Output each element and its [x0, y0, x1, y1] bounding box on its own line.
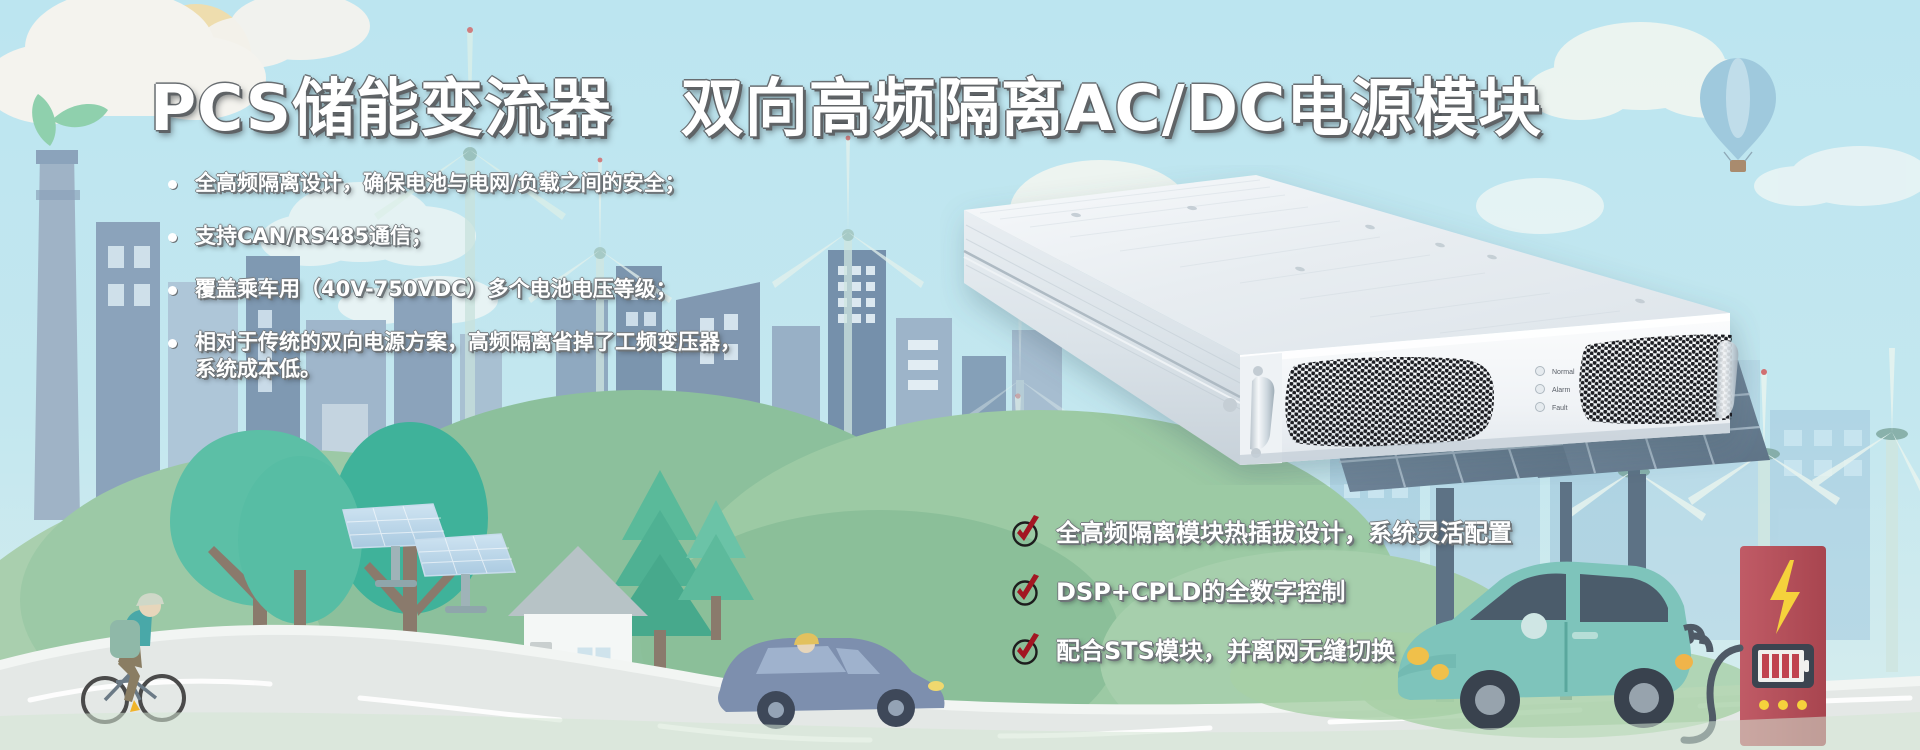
check-circle-icon [1010, 632, 1044, 666]
check-circle-icon [1010, 573, 1044, 607]
list-item: 全高频隔离模块热插拔设计，系统灵活配置 [1010, 513, 1512, 548]
list-item-label: 配合STS模块，并离网无缝切换 [1056, 631, 1395, 666]
bullet-dot-icon [168, 233, 177, 242]
led-label-alarm: Alarm [1552, 387, 1570, 394]
list-item-label: 支持CAN/RS485通信； [195, 223, 432, 250]
list-item-label: DSP+CPLD的全数字控制 [1056, 572, 1345, 607]
list-item-label: 全高频隔离设计，确保电池与电网/负载之间的安全； [195, 170, 686, 197]
bullet-dot-icon [168, 286, 177, 295]
banner-root: Normal Alarm Fault PCS储能变流器 双向高频隔离AC/DC电… [0, 0, 1920, 750]
features-left-list: 全高频隔离设计，确保电池与电网/负载之间的安全； 支持CAN/RS485通信； … [168, 170, 741, 408]
bullet-dot-icon [168, 180, 177, 189]
list-item: 相对于传统的双向电源方案，高频隔离省掉了工频变压器， 系统成本低。 [168, 329, 741, 383]
check-circle-icon [1010, 514, 1044, 548]
led-label-normal: Normal [1552, 369, 1575, 376]
list-item-label: 覆盖乘车用（40V-750VDC）多个电池电压等级； [195, 276, 677, 303]
list-item: 支持CAN/RS485通信； [168, 223, 741, 250]
list-item: 覆盖乘车用（40V-750VDC）多个电池电压等级； [168, 276, 741, 303]
led-label-fault: Fault [1552, 405, 1568, 412]
list-item: 全高频隔离设计，确保电池与电网/负载之间的安全； [168, 170, 741, 197]
list-item-label: 全高频隔离模块热插拔设计，系统灵活配置 [1056, 513, 1512, 548]
bullet-dot-icon [168, 339, 177, 348]
features-right-list: 全高频隔离模块热插拔设计，系统灵活配置 DSP+CPLD的全数字控制 配合STS… [1010, 513, 1512, 690]
smokestack [34, 150, 80, 520]
list-item-label: 相对于传统的双向电源方案，高频隔离省掉了工频变压器， 系统成本低。 [195, 329, 741, 383]
list-item: DSP+CPLD的全数字控制 [1010, 572, 1512, 607]
page-title: PCS储能变流器 双向高频隔离AC/DC电源模块 [150, 58, 1542, 149]
rack-mount-power-module: Normal Alarm Fault [940, 165, 1760, 485]
list-item: 配合STS模块，并离网无缝切换 [1010, 631, 1512, 666]
